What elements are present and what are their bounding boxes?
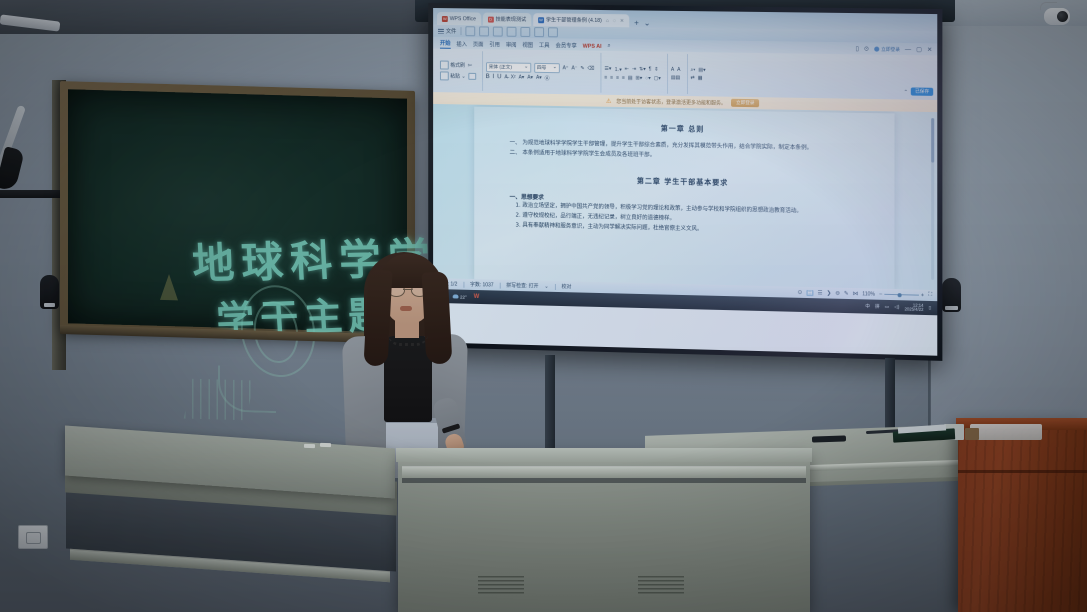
new-tab-button[interactable]: + — [634, 18, 639, 27]
wps-home-tab[interactable]: W WPS Office — [437, 12, 481, 25]
superscript-button[interactable]: X² — [511, 74, 516, 80]
power-outlet — [18, 525, 48, 549]
wps-logo-icon: W — [442, 16, 448, 22]
spellcheck-chevron-down-icon[interactable]: ⌄ — [544, 283, 548, 289]
align-left-button[interactable]: ≡ — [604, 74, 607, 80]
ceiling-recess — [0, 0, 440, 34]
side-wall — [930, 0, 1087, 430]
print-preview-icon[interactable] — [479, 26, 489, 36]
clock-date: 2025/4/22 — [905, 307, 924, 312]
justify-button[interactable]: ≡ — [622, 75, 625, 81]
zoom-out-icon[interactable]: ⊖ — [835, 290, 840, 296]
tab-close-icon[interactable]: ✕ — [620, 18, 624, 24]
font-family-chevron-down-icon: ⌄ — [524, 65, 528, 70]
show-marks-button[interactable]: ¶ — [649, 67, 652, 73]
status-divider-2 — [499, 282, 500, 288]
outline-view-icon[interactable]: ☰ — [818, 290, 823, 296]
close-button[interactable]: ✕ — [927, 46, 932, 53]
sort-button[interactable]: ⇅▾ — [639, 66, 646, 72]
volume-icon[interactable]: ◁) — [894, 304, 899, 310]
font-family-value: 宋体 (正文) — [489, 63, 512, 70]
zoom-level[interactable]: 110% — [862, 291, 875, 297]
paste-label: 粘贴 — [450, 73, 460, 80]
notice-login-button[interactable]: 立即登录 — [731, 99, 759, 107]
page-view-icon[interactable]: ▤ — [806, 289, 813, 295]
lectern-supplies — [970, 424, 1042, 440]
ribbon-tab-view[interactable]: 视图 — [522, 41, 533, 50]
security-camera-icon — [1044, 8, 1070, 25]
shrink-font-button[interactable]: A⁻ — [571, 65, 577, 71]
grow-font-button[interactable]: A⁺ — [563, 65, 569, 71]
decrease-indent-button[interactable]: ⇤ — [625, 66, 629, 72]
spellcheck-status[interactable]: 拼写检查: 打开 — [506, 282, 538, 290]
ribbon-group-paragraph: ☰▾ ⒈▾ ⇤ ⇥ ⇅▾ ¶ ⇕ ≡ ≡ ≡ ≡ ▤ ⊞▾ — [600, 53, 663, 94]
system-tray: 中 拼 ▭ ◁) 12:14 2025/4/22 ▯ — [865, 302, 931, 313]
account-login-label: 立即登录 — [881, 46, 900, 52]
bold-button[interactable]: B — [486, 74, 490, 80]
clear-format-button[interactable]: ⌫ — [587, 65, 594, 71]
chalk-doodle-grass — [184, 379, 255, 420]
minimize-button[interactable]: — — [905, 46, 911, 52]
ribbon-right-actions: ⌃ 已保存 — [904, 57, 934, 98]
text-effect-button[interactable]: A▾ — [527, 75, 533, 81]
ribbon-group-font: 宋体 (正文) ⌄ 四号 ⌄ A⁺ A⁻ ✎ ⌫ B — [482, 51, 598, 92]
scrollbar-thumb[interactable] — [931, 118, 934, 163]
console-top — [396, 448, 812, 462]
paragraph-layout-button[interactable]: ⊞▾ — [636, 75, 643, 81]
word-count[interactable]: 字数: 1037 — [470, 281, 493, 289]
distribute-button[interactable]: ▤ — [628, 75, 633, 81]
presenter-necklace — [388, 334, 428, 346]
blackboard-side-bar — [0, 190, 62, 198]
redo-icon[interactable] — [534, 27, 544, 37]
font-color-button[interactable]: A▾ — [536, 75, 542, 81]
paste-button[interactable]: 粘贴 ⌄ — [440, 71, 466, 80]
cut-button[interactable]: ✄ — [468, 62, 472, 68]
ribbon-group-styles: A A ▤▤ — [667, 54, 684, 94]
ime-mode-indicator[interactable]: 拼 — [875, 304, 880, 310]
replace-button[interactable]: ⇄ — [690, 75, 694, 81]
ribbon-group-clipboard: 格式刷 ✄ 粘贴 ⌄ — [437, 51, 479, 91]
char-border-button[interactable]: Ⓐ — [545, 74, 550, 81]
console-tray-shadow — [402, 478, 806, 483]
account-login-button[interactable]: 立即登录 — [874, 46, 900, 52]
document-scrollbar[interactable] — [931, 118, 934, 280]
guest-mode-notice-text: 您当前处于访客状态，登录激活更多功能和服务。 — [616, 97, 726, 106]
paste-dropdown-icon[interactable]: ⌄ — [462, 73, 466, 79]
edit-icon[interactable]: ✎ — [844, 290, 849, 296]
lectern-trim — [958, 470, 1087, 473]
pdf-tab-icon: D — [488, 16, 494, 22]
ribbon-tab-references[interactable]: 引用 — [489, 40, 500, 49]
restore-layout-icon[interactable]: ▯ — [856, 45, 859, 52]
document-page[interactable]: 第一章 总则 一、 为规范地球科学学院学生干部管理，提升学生干部综合素质，充分发… — [474, 107, 894, 289]
fullscreen-icon[interactable]: ⛶ — [928, 292, 932, 299]
zoom-plus-icon[interactable]: + — [921, 292, 924, 298]
classroom-photo: 地球科学学院 学干主题会议 W WPS Office D 技能表现测试 W 学生… — [0, 0, 1087, 612]
status-divider-3 — [555, 283, 556, 289]
strikethrough-button[interactable]: A̶ — [504, 74, 507, 80]
align-center-button[interactable]: ≡ — [610, 74, 613, 80]
ribbon-tab-page[interactable]: 页面 — [473, 40, 484, 49]
console-vent-left — [478, 576, 524, 594]
font-size-select[interactable]: 四号 ⌄ — [534, 62, 560, 72]
italic-button[interactable]: I — [493, 74, 495, 80]
remote-control — [812, 435, 846, 442]
ribbon-tab-member[interactable]: 会员专享 — [555, 41, 576, 50]
document-canvas[interactable]: 第一章 总则 一、 为规范地球科学学院学生干部管理，提升学生干部综合素质，充分发… — [433, 104, 937, 290]
presenter-hair-left — [364, 269, 393, 366]
document-tab-1-label: 技能表现测试 — [496, 16, 527, 23]
window-controls: ▯ ⊙ 立即登录 — ▢ ✕ — [856, 45, 933, 53]
document-tab-2-label: 学生干部管理条例 (4.18) — [546, 16, 602, 24]
zoom-minus-icon[interactable]: − — [879, 291, 882, 297]
ribbon-group-editing: ⌕▾ ▤▾ ⇄ ▦ — [686, 54, 708, 94]
format-painter-button[interactable]: 格式刷 — [440, 61, 465, 70]
file-menu-label: 文件 — [446, 27, 457, 35]
format-painter-label: 格式刷 — [450, 62, 465, 69]
tab-comment-icon[interactable]: ◌ — [613, 18, 616, 24]
console-vent-right — [638, 576, 684, 594]
paste-icon — [440, 71, 449, 80]
presenter-mouth — [400, 306, 412, 311]
borders-button[interactable]: ▢▾ — [654, 75, 661, 81]
wps-app-label: WPS Office — [450, 16, 476, 22]
word-tab-icon: W — [538, 17, 544, 23]
zoom-track[interactable] — [884, 294, 919, 296]
focus-icon[interactable]: ⊙ — [798, 289, 803, 295]
subscript-button[interactable]: A▾ — [519, 75, 525, 81]
screen-support-left — [545, 355, 555, 460]
notification-icon[interactable]: ▯ — [929, 305, 932, 311]
help-icon[interactable]: ⊙ — [864, 45, 869, 52]
select-button[interactable]: ▤▾ — [698, 67, 705, 73]
web-view-icon[interactable]: ❯ — [827, 290, 832, 296]
zoom-knob[interactable] — [897, 293, 901, 297]
cloud-sync-icon[interactable] — [506, 27, 516, 37]
wall-speaker-left — [40, 275, 59, 309]
increase-indent-button[interactable]: ⇥ — [632, 66, 636, 72]
ribbon-collapse-icon[interactable]: ⌃ — [904, 89, 908, 95]
qa-divider — [460, 27, 461, 35]
ribbon-tab-home[interactable]: 开始 — [440, 39, 451, 49]
menu-hamburger-icon — [438, 28, 444, 33]
lectern-box-2 — [965, 428, 979, 440]
file-menu-button[interactable]: 文件 — [438, 27, 456, 35]
zoom-slider[interactable]: − + — [879, 291, 924, 298]
warning-icon: ⚠ — [606, 97, 611, 104]
highlight-button[interactable]: ✎ — [580, 65, 584, 71]
line-spacing-button[interactable]: ⇕ — [654, 67, 658, 73]
ribbon-toolbar: 格式刷 ✄ 粘贴 ⌄ — [433, 49, 937, 100]
taskbar-clock[interactable]: 12:14 2025/4/22 — [905, 303, 924, 312]
save-status-badge: 已保存 — [911, 87, 933, 95]
tab-dropdown-icon[interactable]: ⌄ — [644, 19, 651, 28]
ruler-icon[interactable]: ⋈ — [853, 291, 859, 297]
document-map-button[interactable]: ▦ — [698, 75, 703, 81]
style-heading-button[interactable]: A — [677, 67, 680, 73]
chapter1-title: 第一章 总则 — [500, 121, 868, 137]
ribbon-tab-tools[interactable]: 工具 — [539, 41, 550, 50]
wooden-lectern — [958, 424, 1087, 612]
chalk-stick-1 — [304, 444, 315, 448]
ribbon-tab-insert[interactable]: 插入 — [456, 40, 467, 49]
customize-qa-icon[interactable] — [548, 27, 558, 37]
presenter-hair-right — [422, 271, 453, 364]
wall-speaker-right — [942, 278, 961, 312]
chalk-stick-2 — [320, 443, 331, 447]
print-icon[interactable] — [493, 27, 503, 37]
ribbon-tab-review[interactable]: 审阅 — [506, 41, 517, 50]
chalk-doodle-triangle — [160, 274, 178, 301]
format-painter-icon — [440, 61, 449, 70]
lectern-wood-grain — [958, 424, 1087, 612]
proofread-button[interactable]: 校对 — [561, 283, 571, 290]
chapter2-title: 第二章 学生干部基本要求 — [500, 173, 868, 190]
underline-button[interactable]: U — [497, 74, 501, 80]
document-tab-1[interactable]: D 技能表现测试 — [483, 13, 531, 27]
font-family-select[interactable]: 宋体 (正文) ⌄ — [486, 62, 531, 73]
undo-icon[interactable] — [520, 27, 530, 37]
copy-icon — [469, 73, 476, 81]
numbering-button[interactable]: ⒈▾ — [614, 66, 621, 73]
find-button[interactable]: ⌕▾ — [690, 67, 695, 73]
align-right-button[interactable]: ≡ — [616, 75, 619, 81]
tab-share-icon[interactable]: ⌂ — [606, 18, 609, 24]
ribbon-search-icon[interactable]: ⌕ — [607, 43, 610, 51]
copy-button[interactable] — [469, 73, 476, 81]
network-icon[interactable]: ▭ — [885, 304, 889, 310]
avatar — [874, 47, 879, 52]
font-size-value: 四号 — [537, 64, 546, 71]
style-normal-button[interactable]: A — [671, 67, 674, 73]
styles-gallery-button[interactable]: ▤▤ — [671, 75, 680, 81]
maximize-button[interactable]: ▢ — [916, 46, 922, 53]
document-tab-2[interactable]: W 学生干部管理条例 (4.18) ⌂ ◌ ✕ — [533, 13, 629, 27]
save-icon[interactable] — [465, 26, 475, 36]
wps-taskbar-icon[interactable]: W — [474, 294, 480, 300]
bullets-button[interactable]: ☰▾ — [604, 66, 611, 72]
projection-screen: W WPS Office D 技能表现测试 W 学生干部管理条例 (4.18) … — [428, 3, 942, 361]
wps-office-window[interactable]: W WPS Office D 技能表现测试 W 学生干部管理条例 (4.18) … — [433, 8, 937, 356]
ime-lang-indicator[interactable]: 中 — [865, 303, 870, 309]
shading-button[interactable]: ◌▾ — [645, 75, 650, 81]
font-size-chevron-down-icon: ⌄ — [553, 65, 557, 70]
